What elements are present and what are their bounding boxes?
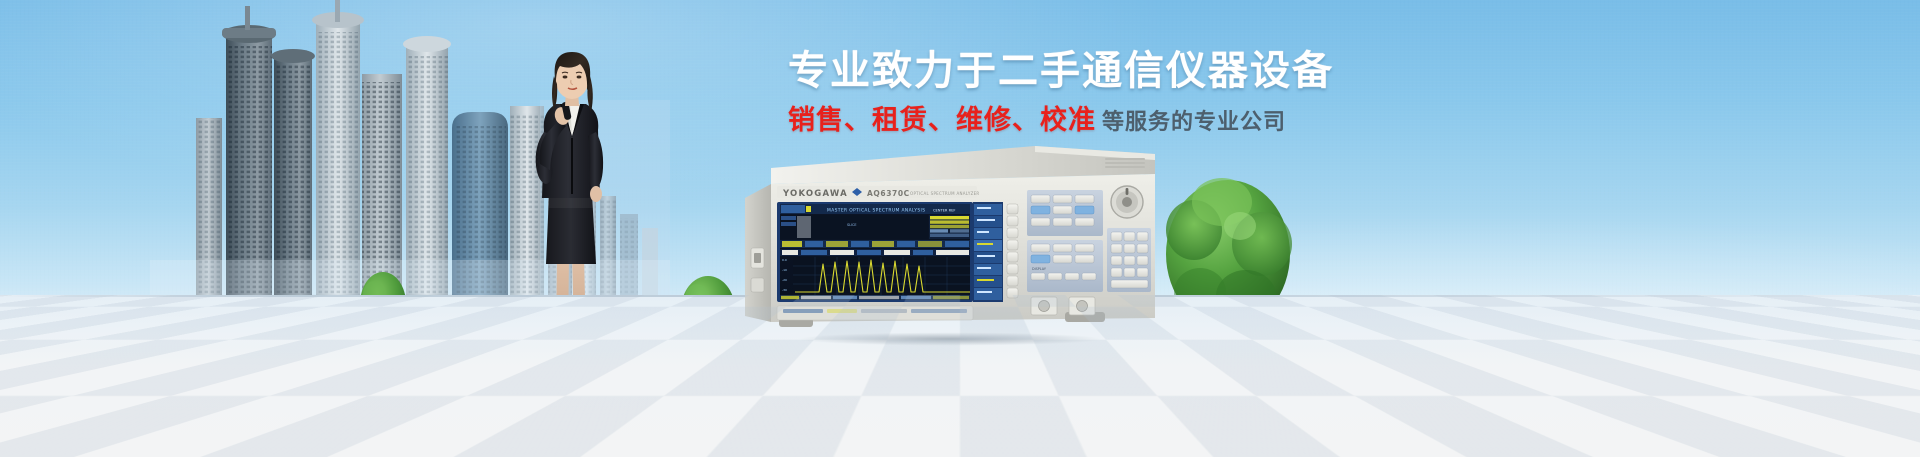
svg-text:0.0: 0.0 bbox=[782, 258, 787, 262]
yokogawa-optical-spectrum-analyzer: YOKOGAWA AQ6370C OPTICAL SPECTRUM ANALYZ… bbox=[735, 140, 1155, 340]
svg-text:-10: -10 bbox=[782, 268, 787, 272]
svg-text:OPTICAL SPECTRUM ANALYZER: OPTICAL SPECTRUM ANALYZER bbox=[910, 191, 980, 196]
svg-text:MASTER OPTICAL SPECTRUM ANA: MASTER OPTICAL SPECTRUM ANALYSIS bbox=[827, 208, 925, 214]
marketing-copy: 专业致力于二手通信仪器设备 销售、租赁、维修、校准等服务的专业公司 bbox=[788, 48, 1408, 141]
svg-text:-20: -20 bbox=[782, 278, 787, 282]
subheadline: 销售、租赁、维修、校准等服务的专业公司 bbox=[788, 104, 1408, 141]
svg-text:YOKOGAWA: YOKOGAWA bbox=[782, 189, 848, 199]
subheadline-highlight: 销售、租赁、维修、校准 bbox=[788, 105, 1096, 136]
headline-text: 专业致力于二手通信仪器设备 bbox=[788, 48, 1408, 94]
svg-text:CENTER REF: CENTER REF bbox=[933, 209, 955, 213]
svg-text:-30: -30 bbox=[782, 288, 787, 292]
svg-text:AQ6370C: AQ6370C bbox=[867, 189, 910, 198]
subheadline-rest: 等服务的专业公司 bbox=[1102, 110, 1286, 135]
svg-text:SLICE: SLICE bbox=[847, 223, 857, 227]
svg-text:DISPLAY: DISPLAY bbox=[1032, 267, 1047, 271]
promotional-banner: YOKOGAWA AQ6370C OPTICAL SPECTRUM ANALYZ… bbox=[0, 0, 1920, 457]
